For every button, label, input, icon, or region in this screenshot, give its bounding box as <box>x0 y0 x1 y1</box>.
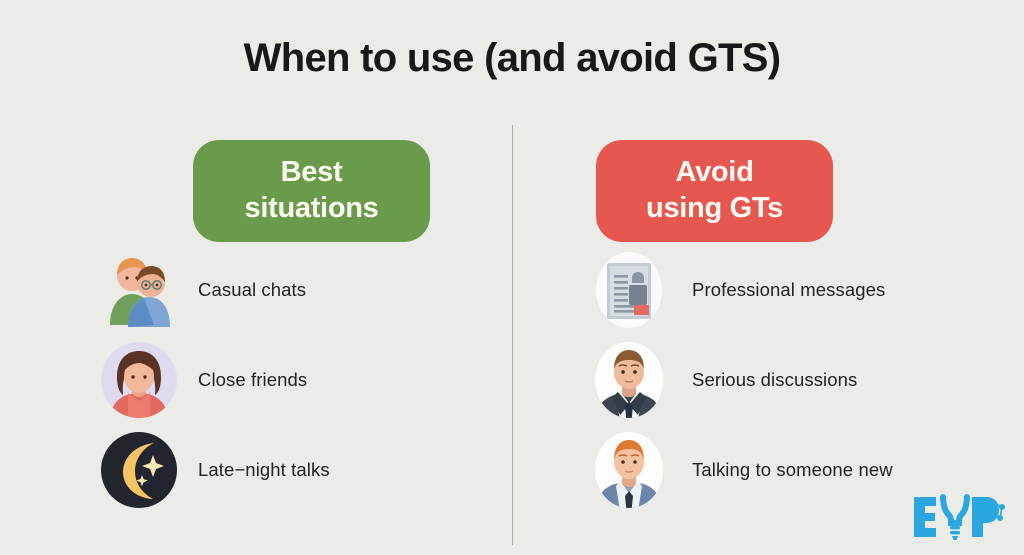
two-friends-icon <box>98 249 180 331</box>
page-title: When to use (and avoid GTS) <box>0 36 1024 81</box>
businessman-ginger-avatar-icon <box>588 429 670 511</box>
list-item[interactable]: Talking to someone new <box>588 425 893 515</box>
badge-line-1: Avoid <box>676 156 754 188</box>
list-best-situations: Casual chats <box>98 245 330 515</box>
list-item-label: Close friends <box>180 369 307 391</box>
badge-avoid-using-gts[interactable]: Avoid using GTs <box>596 140 833 242</box>
list-avoid-using-gts: Professional messages <box>588 245 893 515</box>
list-item-label: Late−night talks <box>180 459 330 481</box>
eyp-logo[interactable] <box>910 489 1006 545</box>
badge-line-2: situations <box>203 190 420 226</box>
resume-document-icon <box>588 249 670 331</box>
column-best-situations: Best situations <box>98 140 498 242</box>
column-divider <box>512 125 513 545</box>
woman-avatar-icon <box>98 339 180 421</box>
slide-root: When to use (and avoid GTS) Best situati… <box>0 0 1024 555</box>
list-item[interactable]: Serious discussions <box>588 335 893 425</box>
list-item-label: Casual chats <box>180 279 306 301</box>
list-item[interactable]: Close friends <box>98 335 330 425</box>
list-item[interactable]: Professional messages <box>588 245 893 335</box>
list-item-label: Professional messages <box>670 279 885 301</box>
list-item[interactable]: Late−night talks <box>98 425 330 515</box>
column-avoid-using-gts: Avoid using GTs <box>588 140 998 242</box>
crescent-moon-icon <box>98 429 180 511</box>
list-item-label: Serious discussions <box>670 369 857 391</box>
list-item[interactable]: Casual chats <box>98 245 330 335</box>
badge-line-1: Best <box>281 156 343 188</box>
badge-best-situations[interactable]: Best situations <box>193 140 430 242</box>
businessman-avatar-icon <box>588 339 670 421</box>
list-item-label: Talking to someone new <box>670 459 893 481</box>
badge-line-2: using GTs <box>606 190 823 226</box>
